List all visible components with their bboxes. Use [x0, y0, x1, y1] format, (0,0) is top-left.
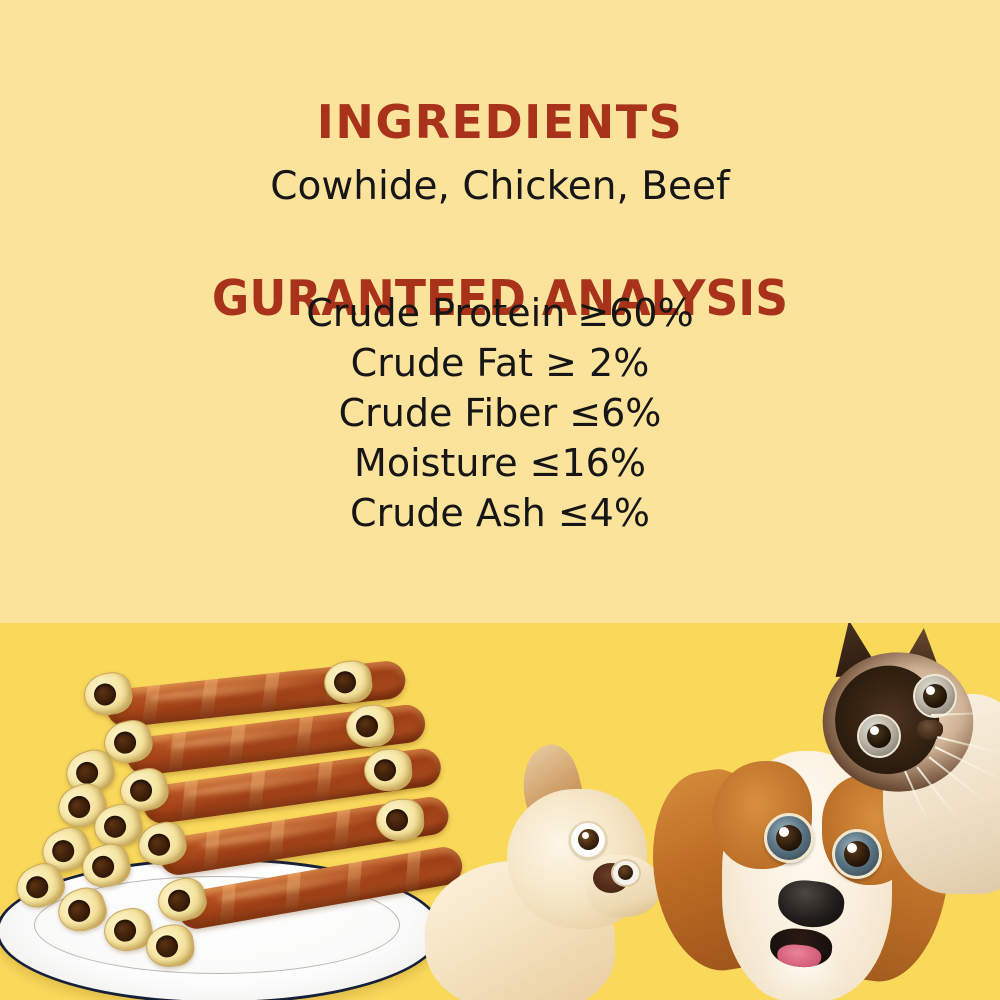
analysis-row: Moisture ≤16%: [0, 438, 1000, 488]
himalayan-cat: [805, 623, 1000, 888]
chihuahua-far-eye: [611, 859, 641, 887]
cat-eye-right: [913, 674, 957, 718]
chihuahua-eye: [569, 821, 607, 859]
ingredients-value: Cowhide, Chicken, Beef: [0, 165, 1000, 210]
analysis-row: Crude Protein ≥60%: [0, 288, 1000, 338]
chihuahua-dog: [465, 743, 675, 1000]
product-infographic: INGREDIENTS Cowhide, Chicken, Beef GURAN…: [0, 0, 1000, 1000]
analysis-row: Crude Fiber ≤6%: [0, 388, 1000, 438]
photo-band: [0, 623, 1000, 1000]
analysis-row: Crude Ash ≤4%: [0, 488, 1000, 538]
guaranteed-analysis-list: Crude Protein ≥60% Crude Fat ≥ 2% Crude …: [0, 288, 1000, 538]
ingredients-heading: INGREDIENTS: [0, 99, 1000, 145]
treat-stack-photo: [0, 633, 456, 1000]
info-panel: INGREDIENTS Cowhide, Chicken, Beef GURAN…: [0, 0, 1000, 623]
cat-eye-left: [857, 714, 901, 758]
analysis-row: Crude Fat ≥ 2%: [0, 338, 1000, 388]
